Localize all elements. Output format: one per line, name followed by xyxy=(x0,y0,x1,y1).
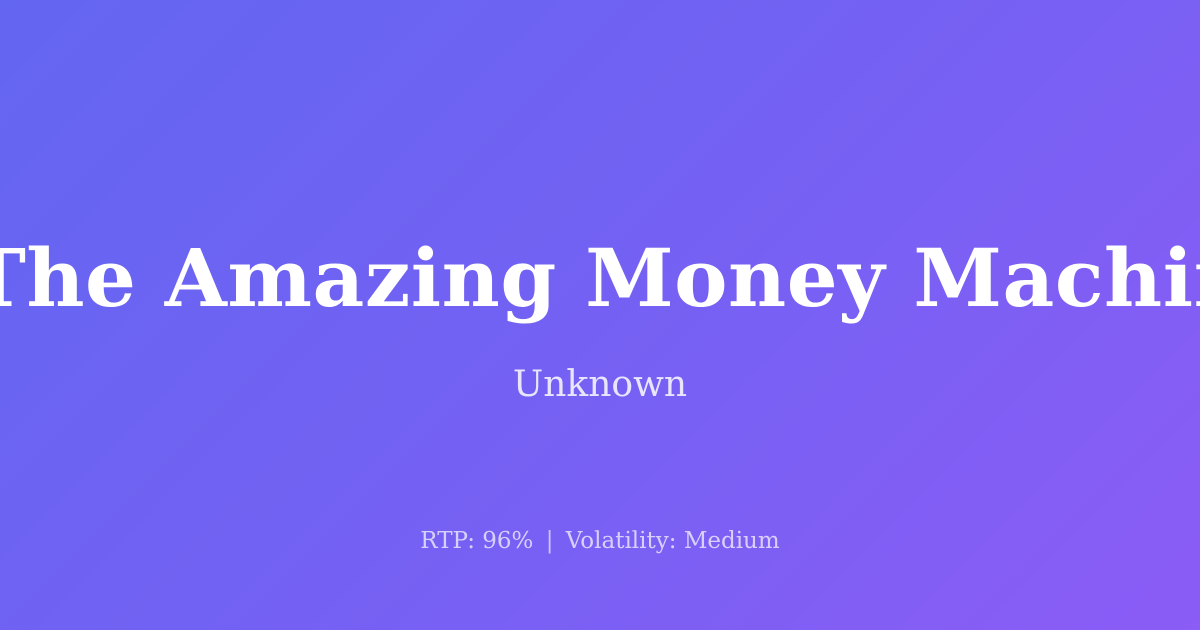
subtitle: Unknown xyxy=(0,363,1200,406)
volatility-value: Medium xyxy=(684,528,780,554)
rtp-label: RTP: xyxy=(420,528,475,554)
page-title: The Amazing Money Machine xyxy=(0,236,1200,320)
title-row: 1 F 4 0 The Amazing Money Machine xyxy=(0,232,1200,324)
volatility-label: Volatility: xyxy=(566,528,677,554)
og-share-card: 1 F 4 0 The Amazing Money Machine Unknow… xyxy=(0,0,1200,630)
rtp-value: 96% xyxy=(482,528,533,554)
meta-separator: | xyxy=(541,528,559,554)
game-stats-line: RTP: 96% | Volatility: Medium xyxy=(0,527,1200,557)
